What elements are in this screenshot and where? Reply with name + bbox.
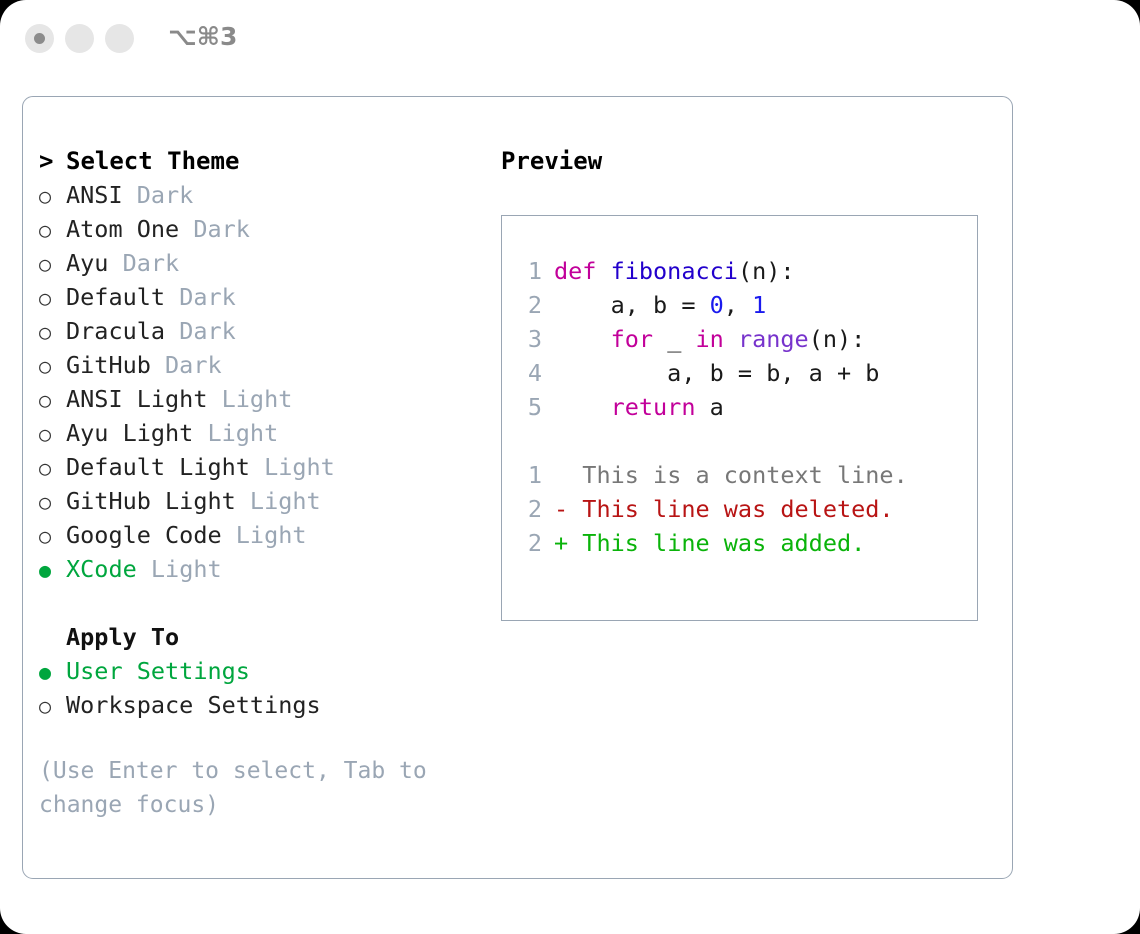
code-line-number: 3 bbox=[520, 322, 542, 356]
code-token-txt bbox=[554, 393, 611, 421]
theme-list-item[interactable]: ●XCode Light bbox=[39, 552, 489, 586]
theme-item-variant: Dark bbox=[151, 351, 222, 379]
theme-list-item[interactable]: ○Default Dark bbox=[39, 280, 489, 314]
theme-item-label: ANSI Light bbox=[66, 385, 207, 413]
app-window: ⌥⌘3 >Select Theme ○ANSI Dark○Atom One Da… bbox=[0, 0, 1140, 934]
diff-line-number: 2 bbox=[520, 492, 542, 526]
theme-item-label: Ayu Light bbox=[66, 419, 193, 447]
theme-list-item[interactable]: ○Default Light Light bbox=[39, 450, 489, 484]
code-token-kw: for bbox=[611, 325, 653, 353]
code-line-number: 4 bbox=[520, 356, 542, 390]
apply-to-item-label: Workspace Settings bbox=[66, 691, 321, 719]
diff-sign bbox=[554, 461, 568, 489]
theme-item-variant: Light bbox=[222, 521, 307, 549]
code-token-call: range bbox=[738, 325, 809, 353]
code-token-txt bbox=[724, 325, 738, 353]
theme-list-header: >Select Theme bbox=[39, 144, 489, 178]
theme-list-item[interactable]: ○GitHub Dark bbox=[39, 348, 489, 382]
code-token-num: 0 bbox=[710, 291, 724, 319]
keyboard-shortcut-label: ⌥⌘3 bbox=[168, 22, 237, 51]
radio-unselected-icon[interactable]: ○ bbox=[39, 247, 66, 281]
code-token-kw: def bbox=[554, 257, 611, 285]
code-token-txt: a, b = b, a + b bbox=[554, 359, 879, 387]
radio-unselected-icon[interactable]: ○ bbox=[39, 417, 66, 451]
code-line: 1def fibonacci(n): bbox=[520, 254, 971, 288]
code-token-txt bbox=[554, 325, 611, 353]
preview-code-area: 1def fibonacci(n):2 a, b = 0, 13 for _ i… bbox=[520, 254, 971, 560]
theme-list: ○ANSI Dark○Atom One Dark○Ayu Dark○Defaul… bbox=[39, 178, 489, 586]
apply-to-item[interactable]: ○Workspace Settings bbox=[39, 688, 489, 722]
theme-item-variant: Dark bbox=[165, 283, 236, 311]
theme-item-label: ANSI bbox=[66, 181, 123, 209]
code-token-txt: a bbox=[695, 393, 723, 421]
code-line-number: 1 bbox=[520, 254, 542, 288]
code-line: 4 a, b = b, a + b bbox=[520, 356, 971, 390]
theme-selection-column: >Select Theme ○ANSI Dark○Atom One Dark○A… bbox=[39, 144, 489, 822]
diff-sign: + bbox=[554, 529, 568, 557]
code-token-kw: return bbox=[611, 393, 696, 421]
apply-to-item-label: User Settings bbox=[66, 657, 250, 685]
theme-item-label: Default bbox=[66, 283, 165, 311]
theme-list-item[interactable]: ○Google Code Light bbox=[39, 518, 489, 552]
theme-item-label: XCode bbox=[66, 555, 137, 583]
diff-line-number: 2 bbox=[520, 526, 542, 560]
theme-list-item[interactable]: ○Ayu Dark bbox=[39, 246, 489, 280]
diff-line: 2+ This line was added. bbox=[520, 526, 971, 560]
theme-item-label: GitHub bbox=[66, 351, 151, 379]
theme-list-item[interactable]: ○ANSI Dark bbox=[39, 178, 489, 212]
theme-item-label: Google Code bbox=[66, 521, 222, 549]
theme-list-item[interactable]: ○Dracula Dark bbox=[39, 314, 489, 348]
code-line-number: 2 bbox=[520, 288, 542, 322]
theme-item-label: Ayu bbox=[66, 249, 108, 277]
code-line: 5 return a bbox=[520, 390, 971, 424]
theme-item-label: Atom One bbox=[66, 215, 179, 243]
radio-unselected-icon[interactable]: ○ bbox=[39, 383, 66, 417]
window-dot-2-icon[interactable] bbox=[65, 24, 94, 53]
code-token-txt: _ bbox=[653, 325, 695, 353]
preview-column: Preview 1def fibonacci(n):2 a, b = 0, 13… bbox=[501, 144, 996, 621]
radio-unselected-icon[interactable]: ○ bbox=[39, 315, 66, 349]
title-bar: ⌥⌘3 bbox=[0, 0, 1140, 78]
code-line: 2 a, b = 0, 1 bbox=[520, 288, 971, 322]
theme-list-item[interactable]: ○GitHub Light Light bbox=[39, 484, 489, 518]
radio-selected-icon[interactable]: ● bbox=[39, 553, 66, 587]
theme-item-variant: Light bbox=[137, 555, 222, 583]
diff-line-number: 1 bbox=[520, 458, 542, 492]
keyboard-hint-text: (Use Enter to select, Tab to change focu… bbox=[39, 754, 449, 822]
theme-list-title: Select Theme bbox=[66, 147, 239, 175]
code-token-txt: (n): bbox=[738, 257, 795, 285]
diff-line: 1 This is a context line. bbox=[520, 458, 971, 492]
theme-item-variant: Dark bbox=[123, 181, 194, 209]
radio-unselected-icon[interactable]: ○ bbox=[39, 689, 66, 723]
list-spacer bbox=[39, 586, 489, 620]
theme-item-variant: Dark bbox=[108, 249, 179, 277]
preview-box: 1def fibonacci(n):2 a, b = 0, 13 for _ i… bbox=[501, 215, 978, 621]
prompt-caret-icon: > bbox=[39, 144, 66, 178]
radio-unselected-icon[interactable]: ○ bbox=[39, 349, 66, 383]
theme-list-item[interactable]: ○Atom One Dark bbox=[39, 212, 489, 246]
preview-title: Preview bbox=[501, 144, 996, 178]
diff-text: This is a context line. bbox=[568, 461, 908, 489]
window-dot-active-icon[interactable] bbox=[25, 24, 54, 53]
code-token-txt: a, b = bbox=[554, 291, 710, 319]
theme-list-item[interactable]: ○Ayu Light Light bbox=[39, 416, 489, 450]
radio-unselected-icon[interactable]: ○ bbox=[39, 281, 66, 315]
radio-selected-icon[interactable]: ● bbox=[39, 655, 66, 689]
radio-unselected-icon[interactable]: ○ bbox=[39, 519, 66, 553]
theme-item-label: GitHub Light bbox=[66, 487, 236, 515]
theme-list-item[interactable]: ○ANSI Light Light bbox=[39, 382, 489, 416]
main-panel: >Select Theme ○ANSI Dark○Atom One Dark○A… bbox=[22, 96, 1013, 879]
window-dot-active-inner-icon bbox=[34, 33, 45, 44]
code-token-num: 1 bbox=[752, 291, 766, 319]
code-block: 1def fibonacci(n):2 a, b = 0, 13 for _ i… bbox=[520, 254, 971, 424]
theme-item-variant: Dark bbox=[179, 215, 250, 243]
theme-item-variant: Light bbox=[236, 487, 321, 515]
code-token-txt: , bbox=[724, 291, 752, 319]
code-token-kw: in bbox=[696, 325, 724, 353]
apply-to-label: Apply To bbox=[39, 620, 489, 654]
theme-item-variant: Light bbox=[193, 419, 278, 447]
radio-unselected-icon[interactable]: ○ bbox=[39, 213, 66, 247]
diff-block: 1 This is a context line.2- This line wa… bbox=[520, 458, 971, 560]
radio-unselected-icon[interactable]: ○ bbox=[39, 179, 66, 213]
diff-sign: - bbox=[554, 495, 568, 523]
theme-item-variant: Dark bbox=[165, 317, 236, 345]
code-token-fn: fibonacci bbox=[611, 257, 738, 285]
radio-unselected-icon[interactable]: ○ bbox=[39, 451, 66, 485]
theme-item-label: Dracula bbox=[66, 317, 165, 345]
code-line-number: 5 bbox=[520, 390, 542, 424]
radio-unselected-icon[interactable]: ○ bbox=[39, 485, 66, 519]
theme-item-label: Default Light bbox=[66, 453, 250, 481]
apply-to-item[interactable]: ●User Settings bbox=[39, 654, 489, 688]
diff-line: 2- This line was deleted. bbox=[520, 492, 971, 526]
code-line: 3 for _ in range(n): bbox=[520, 322, 971, 356]
code-blank-line bbox=[520, 424, 971, 458]
diff-text: This line was deleted. bbox=[568, 495, 893, 523]
window-dot-3-icon[interactable] bbox=[105, 24, 134, 53]
code-token-txt: (n): bbox=[809, 325, 866, 353]
diff-text: This line was added. bbox=[568, 529, 865, 557]
theme-item-variant: Light bbox=[250, 453, 335, 481]
theme-item-variant: Light bbox=[207, 385, 292, 413]
apply-to-list: ●User Settings○Workspace Settings bbox=[39, 654, 489, 722]
